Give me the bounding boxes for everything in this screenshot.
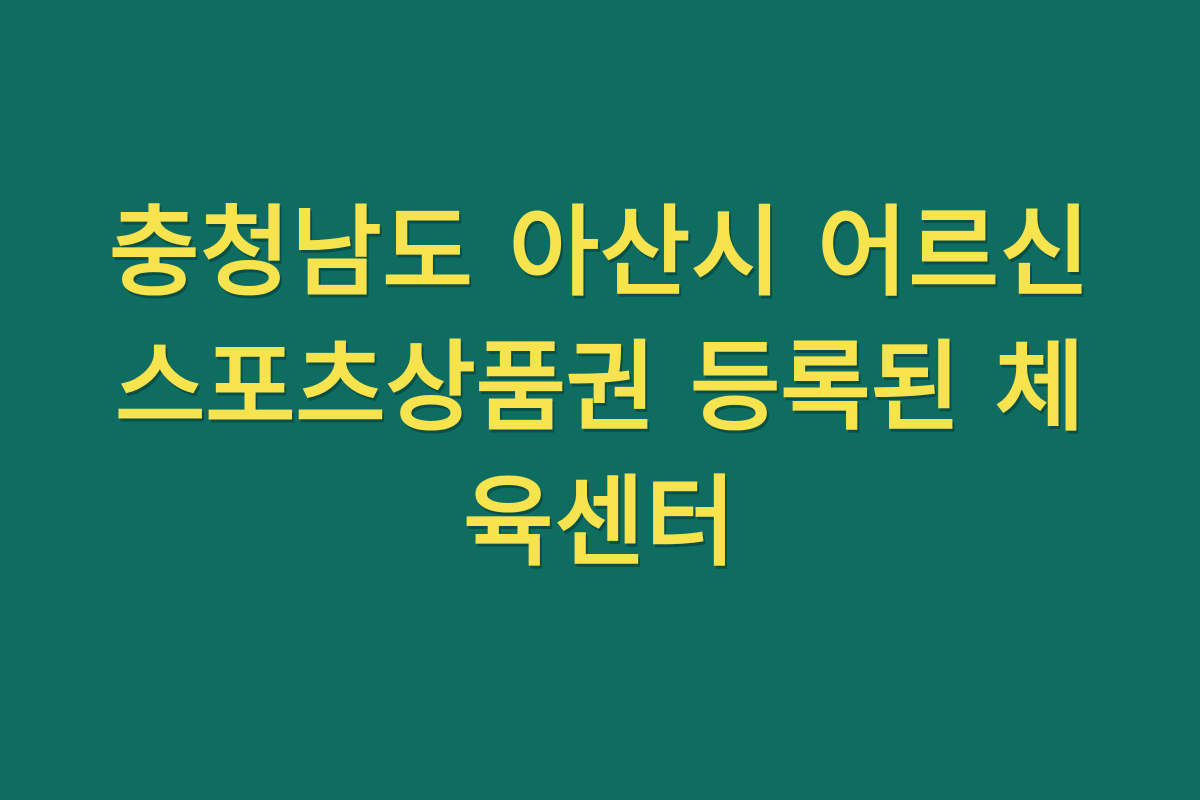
- headline-line-2: 스포츠상품권 등록된 체: [95, 321, 1105, 456]
- banner-headline: 충청남도 아산시 어르신 스포츠상품권 등록된 체 육센터: [95, 186, 1105, 591]
- title-banner: 충청남도 아산시 어르신 스포츠상품권 등록된 체 육센터: [0, 0, 1200, 800]
- headline-line-3: 육센터: [95, 456, 1105, 591]
- headline-line-1: 충청남도 아산시 어르신: [95, 186, 1105, 321]
